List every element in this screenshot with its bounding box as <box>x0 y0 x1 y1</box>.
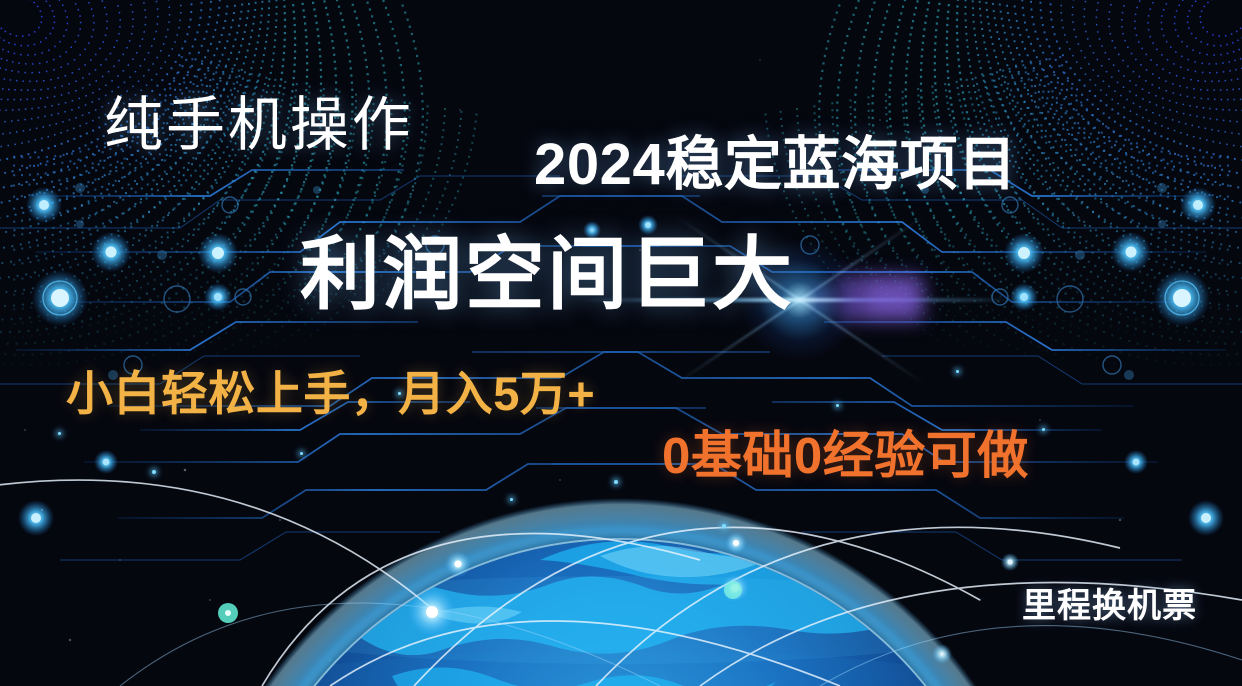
spark-1 <box>58 432 61 435</box>
promo-banner: 纯手机操作 2024稳定蓝海项目 利润空间巨大 小白轻松上手，月入5万+ 0基础… <box>0 0 1242 686</box>
flare-ghost-small <box>812 290 830 308</box>
headline-pure-phone: 纯手机操作 <box>104 96 414 155</box>
spark-6 <box>836 404 839 407</box>
spark-7 <box>956 370 959 373</box>
lens-flare <box>800 300 802 302</box>
headline-huge-profit: 利润空间巨大 <box>300 235 794 315</box>
spark-9 <box>722 524 726 528</box>
spark-4 <box>510 498 513 501</box>
subhead-zero-experience: 0基础0经验可做 <box>662 430 1029 481</box>
spark-8 <box>1042 428 1045 431</box>
subhead-easy-monthly-income: 小白轻松上手，月入5万+ <box>66 370 595 417</box>
headline-stable-blue-ocean-project: 2024稳定蓝海项目 <box>534 136 1017 194</box>
spark-2 <box>152 470 156 474</box>
flare-ghost-purple-inner <box>866 281 918 315</box>
spark-5 <box>614 480 618 484</box>
spark-3 <box>300 452 303 455</box>
footer-miles-for-tickets: 里程换机票 <box>1022 589 1197 623</box>
